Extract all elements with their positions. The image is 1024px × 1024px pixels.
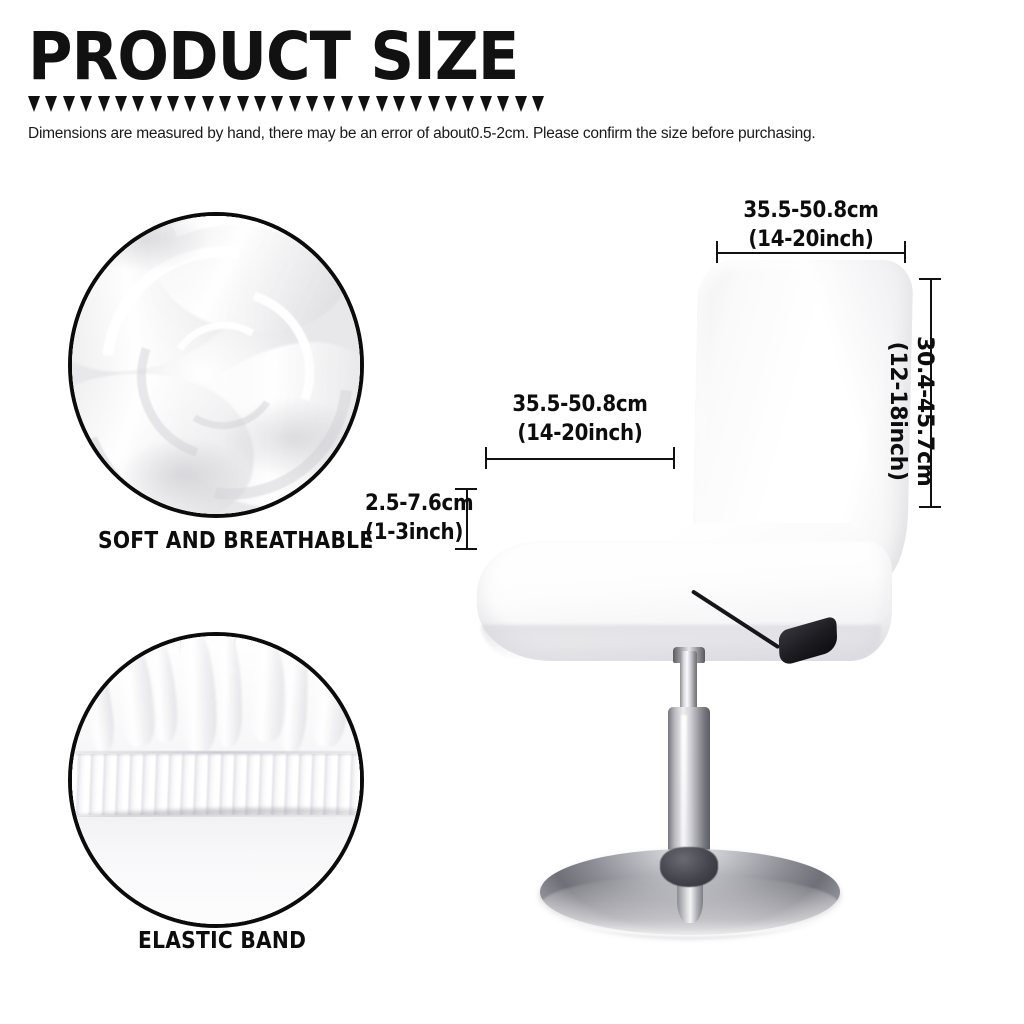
elastic-lower-fabric	[72, 817, 360, 924]
triangle-marker	[289, 96, 301, 112]
triangle-marker	[341, 96, 353, 112]
dimension-line-seat-thickness	[466, 488, 468, 550]
dimension-tick	[919, 506, 941, 508]
triangle-marker	[80, 96, 92, 112]
triangle-marker	[376, 96, 388, 112]
elastic-band-strip	[68, 754, 364, 814]
dimension-value-cm: 30.4-45.7cm	[911, 336, 938, 486]
dimension-tick	[485, 447, 487, 469]
triangle-marker	[323, 96, 335, 112]
triangle-marker	[445, 96, 457, 112]
feature-label-soft-and-breathable: SOFT AND BREATHABLE	[98, 528, 373, 554]
feature-image-soft-and-breathable	[68, 212, 364, 518]
fabric-swirl-texture	[68, 212, 364, 518]
page-title: PRODUCT SIZE	[28, 26, 519, 88]
triangle-marker	[219, 96, 231, 112]
triangle-marker	[45, 96, 57, 112]
triangle-marker	[428, 96, 440, 112]
triangle-marker	[132, 96, 144, 112]
triangle-divider	[28, 96, 544, 114]
dimension-value-cm: 2.5-7.6cm	[365, 489, 455, 518]
dimension-tick	[919, 278, 941, 280]
dimension-value-cm: 35.5-50.8cm	[726, 196, 897, 225]
triangle-marker	[515, 96, 527, 112]
fabric-shadow	[119, 438, 248, 511]
triangle-marker	[237, 96, 249, 112]
triangle-marker	[410, 96, 422, 112]
triangle-marker	[462, 96, 474, 112]
triangle-marker	[63, 96, 75, 112]
elastic-drape-fold	[76, 632, 117, 754]
triangle-marker	[150, 96, 162, 112]
triangle-marker	[393, 96, 405, 112]
dimension-label-seat-width: 35.5-50.8cm (14-20inch)	[495, 390, 666, 448]
elastic-drape-fold	[180, 632, 218, 753]
dimension-label-seat-thickness: 2.5-7.6cm (1-3inch)	[365, 489, 455, 547]
elastic-fabric-texture	[72, 636, 360, 924]
elastic-upper-drape	[72, 636, 360, 768]
dimension-line-seat-width	[485, 458, 675, 460]
chair-base-hub	[660, 847, 718, 887]
triangle-marker	[28, 96, 40, 112]
triangle-marker	[184, 96, 196, 112]
triangle-marker	[115, 96, 127, 112]
dimension-line-backrest-width	[716, 252, 906, 254]
elastic-drape-fold	[216, 636, 242, 747]
dimension-tick	[455, 488, 477, 490]
dimension-tick	[673, 447, 675, 469]
triangle-marker	[358, 96, 370, 112]
product-image-chair	[455, 255, 955, 935]
elastic-drape-fold	[309, 635, 354, 749]
feature-image-elastic-band	[68, 632, 364, 928]
triangle-marker	[532, 96, 544, 112]
triangle-marker	[202, 96, 214, 112]
triangle-marker	[306, 96, 318, 112]
dimension-tick	[716, 241, 718, 263]
fabric-shadow	[81, 212, 210, 272]
triangle-marker	[98, 96, 110, 112]
triangle-marker	[480, 96, 492, 112]
dimension-value-cm: 35.5-50.8cm	[495, 390, 666, 419]
dimension-tick	[455, 548, 477, 550]
triangle-marker	[271, 96, 283, 112]
dimension-value-inch: (12-18inch)	[884, 336, 911, 486]
dimension-value-inch: (14-20inch)	[726, 225, 897, 254]
triangle-marker	[497, 96, 509, 112]
dimension-value-inch: (1-3inch)	[365, 518, 455, 547]
product-size-infographic: PRODUCT SIZE Dimensions are measured by …	[0, 0, 1024, 1024]
measurement-disclaimer: Dimensions are measured by hand, there m…	[28, 124, 815, 144]
dimension-tick	[904, 241, 906, 263]
feature-label-elastic-band: ELASTIC BAND	[138, 928, 306, 954]
triangle-marker	[167, 96, 179, 112]
dimension-label-backrest-width: 35.5-50.8cm (14-20inch)	[726, 196, 897, 254]
triangle-marker	[254, 96, 266, 112]
chair-cylinder-highlight	[681, 715, 687, 867]
dimension-line-backrest-height	[930, 278, 932, 508]
dimension-value-inch: (14-20inch)	[495, 419, 666, 448]
elastic-drape-fold	[278, 632, 312, 753]
